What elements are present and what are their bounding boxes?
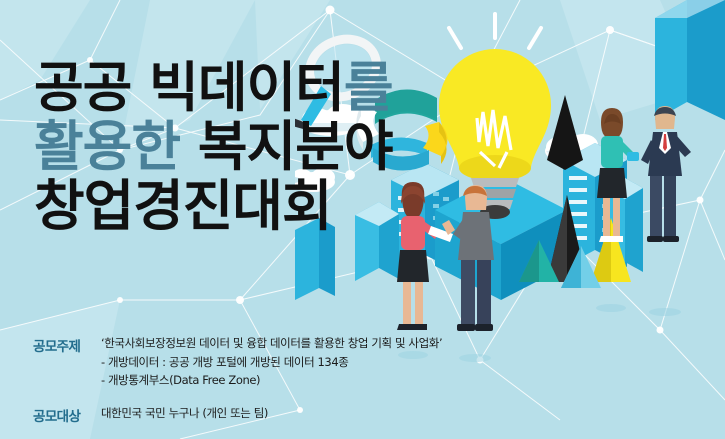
title-line-1: 공공 빅데이터를: [34, 62, 393, 115]
poster-banner: 공공 빅데이터를 활용한 복지분야 창업경진대회 공모주제 ‘한국사회보장정보원…: [0, 0, 725, 439]
title-line-2: 활용한 복지분야: [34, 121, 393, 174]
title-line-2-blue: 활용한: [34, 115, 180, 178]
title-line-1-main: 공공 빅데이터: [34, 56, 344, 119]
eligibility-line-1: 대한민국 국민 누구나 (개인 또는 팀): [101, 404, 268, 423]
info-block: 공모주제 ‘한국사회보장정보원 데이터 및 융합 데이터를 활용한 창업 기획 …: [33, 334, 463, 425]
info-row-eligibility: 공모대상 대한민국 국민 누구나 (개인 또는 팀): [33, 404, 463, 425]
info-body-eligibility: 대한민국 국민 누구나 (개인 또는 팀): [101, 404, 268, 423]
info-body-subject: ‘한국사회보장정보원 데이터 및 융합 데이터를 활용한 창업 기획 및 사업화…: [101, 334, 442, 390]
info-row-subject: 공모주제 ‘한국사회보장정보원 데이터 및 융합 데이터를 활용한 창업 기획 …: [33, 334, 463, 390]
info-label-subject: 공모주제: [33, 334, 101, 355]
info-label-eligibility: 공모대상: [33, 404, 101, 425]
title-line-2-black: 복지분야: [180, 115, 393, 178]
subject-line-2: - 개방데이터 : 공공 개방 포털에 개방된 데이터 134종: [101, 353, 442, 372]
man-standing: [641, 106, 691, 316]
poster-title: 공공 빅데이터를 활용한 복지분야 창업경진대회: [34, 62, 393, 234]
title-line-1-suffix: 를: [344, 56, 393, 119]
title-line-3: 창업경진대회: [34, 180, 393, 234]
subject-line-1: ‘한국사회보장정보원 데이터 및 융합 데이터를 활용한 창업 기획 및 사업화…: [101, 334, 442, 353]
subject-line-3: - 개방통계부스(Data Free Zone): [101, 371, 442, 390]
